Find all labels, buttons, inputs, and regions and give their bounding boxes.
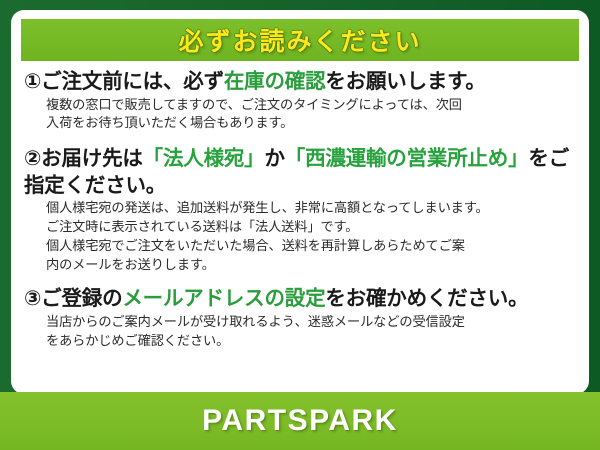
notice-item-3: ③ご登録のメールアドレスの設定をお確かめください。 当店からのご案内メールが受け…: [24, 285, 576, 351]
notice-item-1: ①ご注文前には、必ず在庫の確認をお願いします。 複数の窓口で販売してますので、ご…: [24, 68, 576, 134]
notice-items: ①ご注文前には、必ず在庫の確認をお願いします。 複数の窓口で販売してますので、ご…: [21, 61, 579, 351]
notice-item-3-heading: ③ご登録のメールアドレスの設定をお確かめください。: [24, 285, 576, 312]
notice-item-2: ②お届け先は「法人様宛」か「西濃運輸の営業所止め」をご指定ください。 個人様宅宛…: [24, 145, 576, 275]
notice-card: 必ずお読みください ①ご注文前には、必ず在庫の確認をお願いします。 複数の窓口で…: [0, 0, 600, 450]
notice-item-2-head-middle: か: [264, 146, 284, 170]
footer-brand-band: PARTSPARK: [0, 392, 600, 450]
notice-item-2-body: 個人様宅宛の発送は、追加送料が発生し、非常に高額となってしまいます。 ご注文時に…: [24, 200, 576, 275]
notice-item-3-highlight: メールアドレスの設定: [122, 286, 325, 310]
notice-item-1-head-before: ご注文前には、必ず: [41, 69, 224, 93]
notice-item-1-body: 複数の窓口で販売してますので、ご注文のタイミングによっては、次回 入荷をお待ち頂…: [24, 97, 576, 134]
notice-item-1-marker: ①: [24, 69, 41, 93]
notice-item-1-highlight: 在庫の確認: [224, 69, 326, 93]
notice-item-3-body: 当店からのご案内メールが受け取れるよう、迷惑メールなどの受信設定 をあらかじめご…: [24, 314, 576, 351]
notice-item-2-marker: ②: [24, 146, 41, 170]
notice-item-2-heading: ②お届け先は「法人様宛」か「西濃運輸の営業所止め」をご指定ください。: [24, 145, 576, 198]
header-banner: 必ずお読みください: [21, 19, 579, 61]
notice-item-3-head-before: ご登録の: [41, 286, 122, 310]
notice-item-2-head-before: お届け先は: [41, 146, 143, 170]
notice-item-2-highlight-2: 「西濃運輸の営業所止め」: [285, 146, 529, 170]
notice-item-3-head-after: をお確かめください。: [325, 286, 528, 310]
content-sheet: 必ずお読みください ①ご注文前には、必ず在庫の確認をお願いします。 複数の窓口で…: [11, 10, 589, 394]
banner-title: 必ずお読みください: [178, 22, 421, 58]
notice-item-3-marker: ③: [24, 286, 41, 310]
notice-item-1-head-after: をお願いします。: [325, 69, 485, 93]
brand-wordmark: PARTSPARK: [202, 404, 398, 438]
notice-item-2-highlight-1: 「法人様宛」: [143, 146, 265, 170]
notice-item-1-heading: ①ご注文前には、必ず在庫の確認をお願いします。: [24, 68, 576, 95]
